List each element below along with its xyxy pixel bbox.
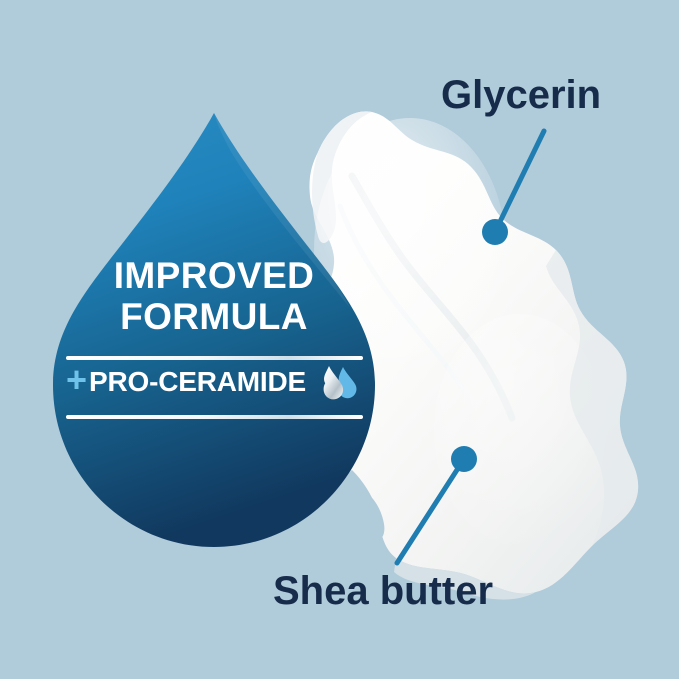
glycerin-callout-dot bbox=[482, 219, 508, 245]
glycerin-label: Glycerin bbox=[441, 73, 601, 118]
infographic-canvas: IMPROVED FORMULA + PRO-CERAMIDE bbox=[0, 0, 679, 679]
shea-butter-callout-dot bbox=[451, 446, 477, 472]
glycerin-leader-line bbox=[495, 131, 544, 232]
shea-butter-label: Shea butter bbox=[273, 569, 493, 614]
